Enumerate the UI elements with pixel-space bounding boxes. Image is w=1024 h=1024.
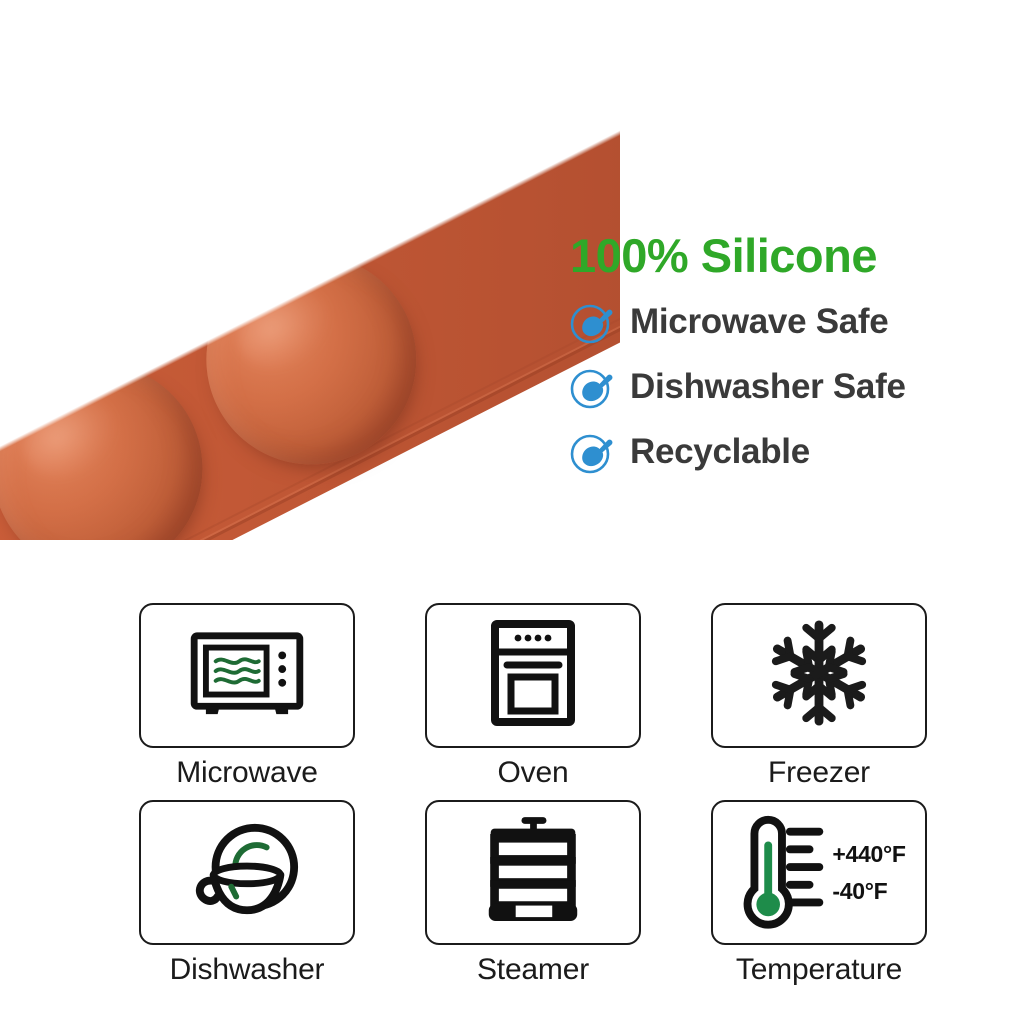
icon-cell-dishwasher: Dishwasher [139, 800, 355, 987]
feature-row: Microwave Safe [566, 293, 1018, 351]
icon-cell-oven: Oven [425, 603, 641, 790]
icon-cell-freezer: Freezer [711, 603, 927, 790]
icon-caption: Temperature [711, 953, 927, 987]
spoon-in-circle-icon [566, 296, 618, 348]
photo-bottom-mask [0, 540, 620, 580]
headline-100-percent-silicone: 100% Silicone [570, 232, 1018, 279]
feature-block: 100% Silicone Microwave Safe Dishwasher … [566, 232, 1018, 488]
icon-card [139, 800, 355, 945]
feature-row: Dishwasher Safe [566, 358, 1018, 416]
thermometer-icon [732, 810, 828, 935]
snowflake-icon [765, 619, 873, 732]
oven-icon [490, 619, 576, 732]
microwave-icon [188, 628, 306, 723]
steamer-icon [483, 815, 583, 930]
feature-row: Recyclable [566, 423, 1018, 481]
icon-caption: Steamer [425, 953, 641, 987]
product-photo [0, 0, 620, 580]
icon-cell-microwave: Microwave [139, 603, 355, 790]
icon-card [139, 603, 355, 748]
temperature-max: +440°F [832, 841, 905, 868]
feature-label: Recyclable [630, 432, 810, 472]
feature-label: Microwave Safe [630, 302, 888, 342]
silicone-mold-tray [0, 0, 620, 580]
spoon-in-circle-icon [566, 361, 618, 413]
icon-card [425, 603, 641, 748]
icon-caption: Freezer [711, 756, 927, 790]
icon-caption: Dishwasher [139, 953, 355, 987]
icon-card [425, 800, 641, 945]
temperature-min: -40°F [832, 878, 905, 905]
icon-card [711, 603, 927, 748]
icon-caption: Oven [425, 756, 641, 790]
plate-and-cup-icon [186, 816, 308, 929]
feature-label: Dishwasher Safe [630, 367, 906, 407]
icon-caption: Microwave [139, 756, 355, 790]
icon-card: +440°F -40°F [711, 800, 927, 945]
temperature-range: +440°F -40°F [832, 841, 905, 905]
icon-cell-steamer: Steamer [425, 800, 641, 987]
feature-icon-grid: Microwave Oven [139, 603, 929, 987]
product-infographic: 100% Silicone Microwave Safe Dishwasher … [0, 0, 1024, 1024]
icon-cell-temperature: +440°F -40°F Temperature [711, 800, 927, 987]
spoon-in-circle-icon [566, 426, 618, 478]
